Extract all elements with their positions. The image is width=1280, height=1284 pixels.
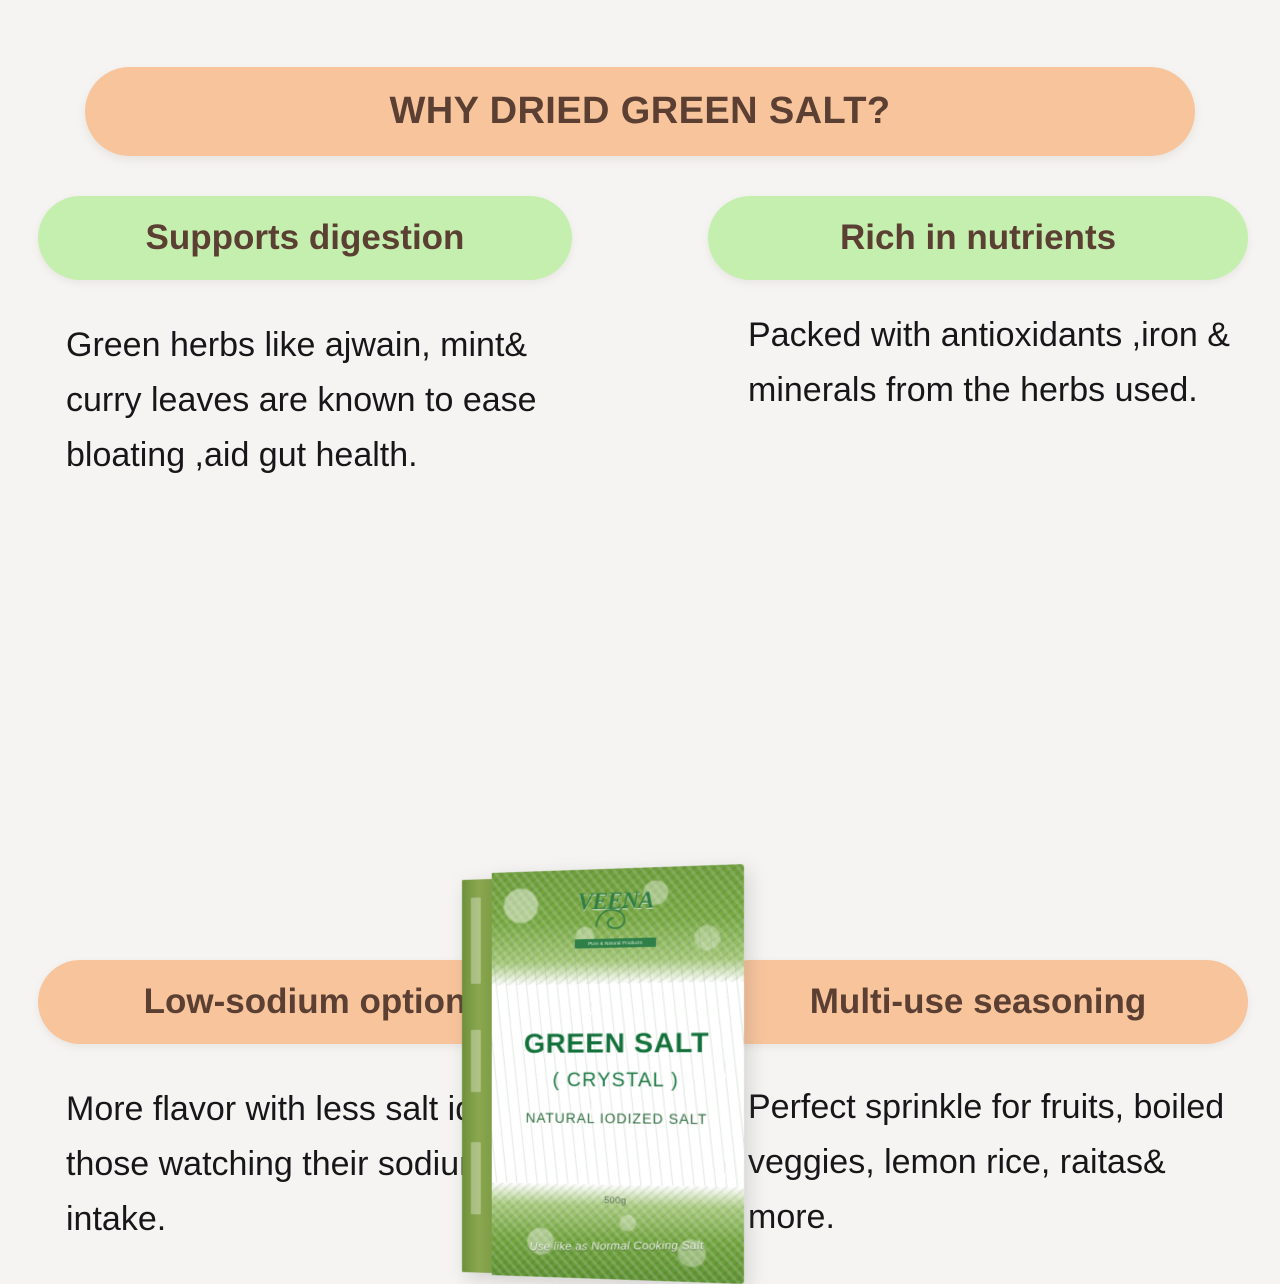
feature-pill-supports-digestion[interactable]: Supports digestion <box>38 196 572 280</box>
feature-label: Rich in nutrients <box>708 218 1248 258</box>
feature-row-1: Supports digestion Green herbs like ajwa… <box>0 190 1280 572</box>
feature-body-rich-in-nutrients: Packed with antioxidants ,iron & mineral… <box>748 308 1258 418</box>
feature-card-multi-use-seasoning: Multi-use seasoning <box>708 960 1248 1044</box>
page-title-banner: WHY DRIED GREEN SALT? <box>85 67 1195 156</box>
brand-logo: VEENA Pure & Natural Products <box>558 887 673 949</box>
feature-pill-multi-use-seasoning[interactable]: Multi-use seasoning <box>708 960 1248 1044</box>
product-usage-note: Use like as Normal Cooking Salt <box>492 1239 744 1253</box>
feature-row-2: Low-sodium option More flavor with less … <box>0 572 1280 872</box>
feature-grid: Supports digestion Green herbs like ajwa… <box>0 190 1280 872</box>
product-image: VEENA Pure & Natural Products GREEN SALT… <box>462 874 752 1280</box>
product-box-3d: VEENA Pure & Natural Products GREEN SALT… <box>462 864 744 1284</box>
product-subtitle: NATURAL IODIZED SALT <box>492 1110 744 1127</box>
feature-pill-rich-in-nutrients[interactable]: Rich in nutrients <box>708 196 1248 280</box>
feature-card-rich-in-nutrients: Rich in nutrients <box>708 196 1248 280</box>
feature-card-supports-digestion: Supports digestion <box>38 196 572 280</box>
product-variant: ( CRYSTAL ) <box>492 1070 744 1093</box>
page-title: WHY DRIED GREEN SALT? <box>389 90 890 133</box>
leaf-swirl-icon <box>592 903 638 931</box>
product-box-spine <box>462 879 492 1273</box>
product-name: GREEN SALT <box>492 1027 744 1060</box>
feature-body-multi-use-seasoning: Perfect sprinkle for fruits, boiled vegg… <box>748 1080 1258 1245</box>
feature-label: Supports digestion <box>38 218 572 258</box>
product-box-front: VEENA Pure & Natural Products GREEN SALT… <box>492 864 744 1284</box>
feature-label: Multi-use seasoning <box>708 982 1248 1022</box>
feature-body-supports-digestion: Green herbs like ajwain, mint& curry lea… <box>66 318 586 483</box>
brand-tagline: Pure & Natural Products <box>575 937 656 948</box>
